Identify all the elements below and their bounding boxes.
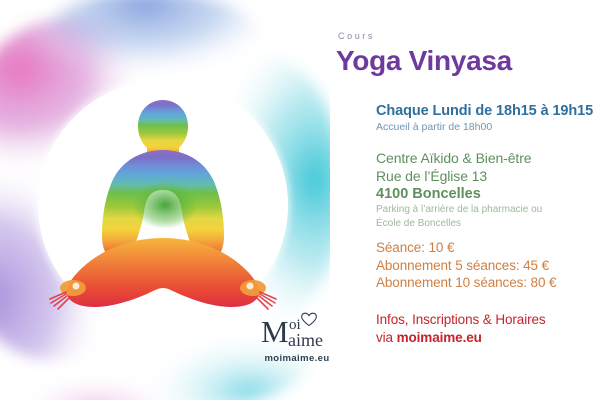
address-venue: Centre Aïkido & Bien-être	[376, 150, 542, 168]
address-city: 4100 Boncelles	[376, 185, 542, 203]
address-note-1: Parking à l’arrière de la pharmacie ou	[376, 203, 542, 217]
schedule-block: Chaque Lundi de 18h15 à 19h15 Accueil à …	[376, 103, 593, 135]
page-title: Yoga Vinyasa	[336, 45, 512, 77]
price-pass-10: Abonnement 10 séances: 80 €	[376, 274, 556, 292]
logo-wordmark: M oi aime moimaime.eu	[247, 312, 347, 352]
contact-website-link[interactable]: moimaime.eu	[397, 330, 482, 345]
address-street: Rue de l’Église 13	[376, 168, 542, 186]
price-single: Séance: 10 €	[376, 239, 556, 257]
pricing-block: Séance: 10 € Abonnement 5 séances: 45 € …	[376, 239, 556, 292]
contact-via-line: via moimaime.eu	[376, 329, 546, 347]
schedule-sub: Accueil à partir de 18h00	[376, 120, 593, 135]
contact-via-label: via	[376, 330, 397, 345]
logo-url: moimaime.eu	[247, 353, 347, 364]
schedule-main: Chaque Lundi de 18h15 à 19h15	[376, 103, 593, 120]
kicker-label: Cours	[338, 31, 375, 41]
info-column: Cours Yoga Vinyasa Chaque Lundi de 18h15…	[336, 0, 600, 400]
price-pass-5: Abonnement 5 séances: 45 €	[376, 257, 556, 275]
contact-headline: Infos, Inscriptions & Horaires	[376, 311, 546, 329]
poster-canvas: M oi aime moimaime.eu Cours Yoga Vinyasa…	[0, 0, 600, 400]
address-block: Centre Aïkido & Bien-être Rue de l’Églis…	[376, 150, 542, 230]
logo-letters-aime: aime	[288, 331, 323, 349]
contact-block: Infos, Inscriptions & Horaires via moima…	[376, 311, 546, 346]
address-note-2: École de Boncelles	[376, 217, 542, 231]
logo-letter-m: M	[261, 316, 289, 347]
brand-logo: M oi aime moimaime.eu	[247, 312, 347, 352]
